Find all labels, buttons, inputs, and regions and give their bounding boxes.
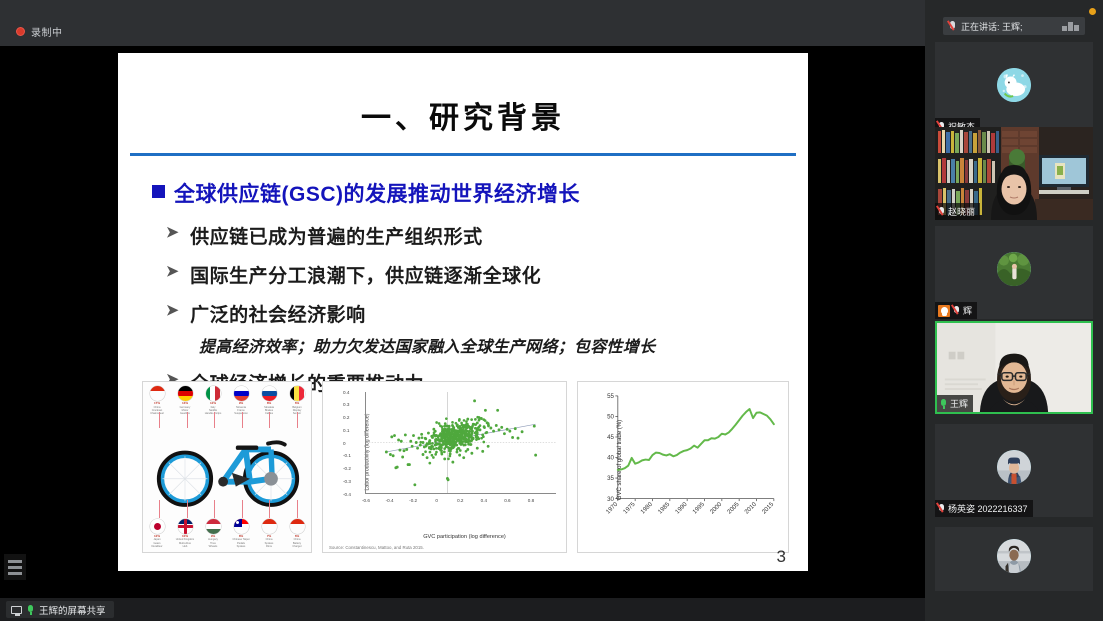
flag-icon [234,519,249,534]
axis-tick-label: 0.8 [525,498,537,503]
avatar [997,68,1031,102]
leader-line [214,412,215,428]
bicycle-illustration [149,424,307,512]
participant-tile[interactable]: 赵晓丽 [935,127,1093,220]
axis-tick-label: 0.2 [343,415,349,420]
screen-share-label: 王辉的屏幕共享 [39,603,106,617]
svg-text:45: 45 [607,434,614,441]
axis-tick-label: -0.2 [407,498,419,503]
flag-label: 12%JapanGearsDerailleur [145,535,169,548]
avatar [997,450,1031,484]
flag-label: 17%ChinaCranksetChainwheel [145,402,169,415]
slide-page-number: 3 [777,547,786,567]
figure-line-gvc-share: GVC share of global trade (%) 5550454035… [577,381,789,553]
leader-line [187,500,188,518]
flag-cell: 17%ChinaCranksetChainwheel [145,386,169,415]
avatar [997,252,1031,286]
flag-icon [150,519,165,534]
microphone-muted-icon [953,305,960,316]
axis-tick-label: 0 [431,498,443,503]
svg-text:1995: 1995 [691,501,706,516]
svg-text:40: 40 [607,455,614,462]
scatter-source-note: Source: Constantinescu, Mattoo, and Ruta… [329,545,424,550]
flag-icon [262,519,277,534]
svg-text:35: 35 [607,475,614,482]
avatar [997,539,1031,573]
flag-icon [290,519,305,534]
title-underline-rule [130,153,796,156]
participant-rail: 正在讲话: 王辉; 祝敏杰 [925,0,1103,621]
participant-name: 王辉 [950,397,968,410]
flag-label: 7%ChinaSpokesRims [257,535,281,548]
leader-line [187,412,188,428]
microphone-muted-icon [938,503,945,514]
flag-icon [150,386,165,401]
flag-icon [178,519,193,534]
list-item: ➤ 国际生产分工浪潮下，供应链逐渐全球化 [166,261,808,288]
presentation-slide: 一、研究背景 全球供应链(GSC)的发展推动世界经济增长 ➤ 供应链已成为普遍的… [118,53,808,571]
recording-dot-icon [16,27,25,36]
axis-tick-label: 0.1 [343,428,349,433]
status-dot-icon [1089,8,1096,15]
slide-title: 一、研究背景 [118,53,808,137]
participant-namebar: 杨英姿 2022216337 [935,500,1033,517]
participant-tile[interactable]: 辉 [935,226,1093,319]
scatter-plot-area [365,392,556,494]
participant-namebar: 王辉 [937,395,973,412]
bullet-text: 国际生产分工浪潮下，供应链逐渐全球化 [190,261,541,288]
host-badge-icon [938,305,950,317]
list-item: ➤ 供应链已成为普遍的生产组织形式 [166,222,808,249]
figure-bicycle-supply-chain: 17%ChinaCranksetChainwheel13%GermanyMoto… [142,381,312,553]
active-speaker-banner: 正在讲话: 王辉; [943,17,1085,35]
microphone-muted-icon [938,206,945,217]
flag-label: 9%HungaryTiresWheels [201,535,225,548]
svg-text:2000: 2000 [709,501,724,516]
flag-icon [234,386,249,401]
leader-line [297,500,298,518]
leader-line [159,412,160,428]
axis-tick-label: -0.4 [343,492,351,497]
leader-line [269,412,270,428]
axis-tick-label: 0.6 [501,498,513,503]
participant-namebar: 辉 [935,302,977,319]
leader-line [214,500,215,518]
flag-icon [178,386,193,401]
axis-tick-label: -0.6 [360,498,372,503]
flag-cell: 10%United KingdomMulti-driveHub [173,519,197,548]
square-bullet-icon [152,185,165,198]
axis-tick-label: -0.1 [343,453,351,458]
slide-bullet-list: ➤ 供应链已成为普遍的生产组织形式 ➤ 国际生产分工浪潮下，供应链逐渐全球化 ➤… [166,222,808,396]
participant-tile[interactable]: 祝敏杰 [935,42,1093,135]
leader-line [159,500,160,518]
flag-cell: 12%ItalySaddleHandle / Grips [201,386,225,415]
svg-text:2005: 2005 [726,501,741,516]
leader-line [242,500,243,518]
axis-tick-label: 0 [343,441,346,446]
microphone-icon [27,604,34,615]
microphone-muted-icon [949,21,956,32]
participant-tile[interactable] [935,527,1093,591]
flag-cell: 8%Chinese TaipeiPedalsSpokes [229,519,253,548]
participant-namebar: 赵晓丽 [935,203,980,220]
flag-row-top: 17%ChinaCranksetChainwheel13%GermanyMoto… [143,386,311,415]
svg-text:50: 50 [607,414,614,421]
slide-heading-text: 全球供应链(GSC)的发展推动世界经济增长 [174,178,580,208]
flag-cell: 7%ChinaSpokesRims [257,519,281,548]
slide-figure-row: 17%ChinaCranksetChainwheel13%GermanyMoto… [142,381,790,553]
flag-cell: 12%JapanGearsDerailleur [145,519,169,548]
slide-heading: 全球供应链(GSC)的发展推动世界经济增长 [152,178,808,208]
audio-waveform-icon [1062,22,1079,31]
leader-line [269,500,270,518]
svg-text:1990: 1990 [674,501,689,516]
figure-scatter-gvc-productivity: Labor productivity (log difference) 0.40… [322,381,567,553]
list-item: ➤ 广泛的社会经济影响 [166,300,808,327]
recording-topbar: 录制中 [0,0,925,46]
participant-name: 杨英姿 2022216337 [948,502,1028,515]
screen-share-statusbar: 王辉的屏幕共享 [0,598,925,621]
recording-indicator: 录制中 [16,24,63,39]
bullet-text: 供应链已成为普遍的生产组织形式 [190,222,483,249]
line-plot-area: 5550454035301970197519801985199019952000… [584,388,782,546]
axis-tick-label: -0.2 [343,466,351,471]
participant-tile-active-speaker[interactable]: 王辉 [935,321,1093,414]
flag-label: 8%Chinese TaipeiPedalsSpokes [229,535,253,548]
axis-tick-label: 0.4 [478,498,490,503]
leader-line [242,412,243,428]
svg-text:2010: 2010 [743,501,758,516]
bullet-subnote: 提高经济效率；助力欠发达国家融入全球生产网络；包容性增长 [199,333,808,357]
flag-cell: 6%ChinaBatteryCharger [285,519,309,548]
recording-label: 录制中 [31,24,63,39]
bullet-text: 广泛的社会经济影响 [190,300,366,327]
svg-text:1970: 1970 [605,501,620,516]
flag-row-bottom: 12%JapanGearsDerailleur10%United Kingdom… [143,519,311,548]
svg-text:1985: 1985 [657,501,672,516]
arrow-bullet-icon: ➤ [166,222,179,245]
flag-cell: 9%HungaryTiresWheels [201,519,225,548]
active-speaker-label: 正在讲话: 王辉; [961,20,1023,33]
participant-name: 赵晓丽 [948,205,975,218]
flag-label: 10%United KingdomMulti-driveHub [173,535,197,548]
flag-label: 12%ItalySaddleHandle / Grips [201,402,225,415]
svg-text:55: 55 [607,393,614,400]
svg-text:1980: 1980 [639,501,654,516]
svg-text:1975: 1975 [622,501,637,516]
scatter-x-axis-label: GVC participation (log difference) [363,534,566,540]
axis-tick-label: 0.4 [343,390,349,395]
menu-list-icon[interactable] [4,554,26,580]
leader-line [297,412,298,428]
shared-screen-stage: 一、研究背景 全球供应链(GSC)的发展推动世界经济增长 ➤ 供应链已成为普遍的… [0,46,925,598]
screen-icon [11,606,22,614]
screen-share-indicator[interactable]: 王辉的屏幕共享 [6,601,114,618]
arrow-bullet-icon: ➤ [166,300,179,323]
zoom-meeting-window: 录制中 一、研究背景 全球供应链(GSC)的发展推动世界经济增长 ➤ 供应链已成… [0,0,1103,621]
arrow-bullet-icon: ➤ [166,261,179,284]
microphone-icon [940,398,947,409]
participant-name: 辉 [963,304,972,317]
flag-icon [206,519,221,534]
flag-icon [206,386,221,401]
axis-tick-label: -0.3 [343,479,351,484]
svg-text:2015: 2015 [761,501,776,516]
flag-icon [262,386,277,401]
axis-tick-label: -0.4 [384,498,396,503]
flag-icon [290,386,305,401]
axis-tick-label: 0.2 [454,498,466,503]
flag-label: 6%ChinaBatteryCharger [285,535,309,548]
flag-cell: 13%GermanyMotorGearbox [173,386,197,415]
participant-tile[interactable]: 杨英姿 2022216337 [935,424,1093,517]
line-y-axis-label: GVC share of global trade (%) [617,420,623,500]
flag-label: 13%GermanyMotorGearbox [173,402,197,415]
axis-tick-label: 0.3 [343,402,349,407]
